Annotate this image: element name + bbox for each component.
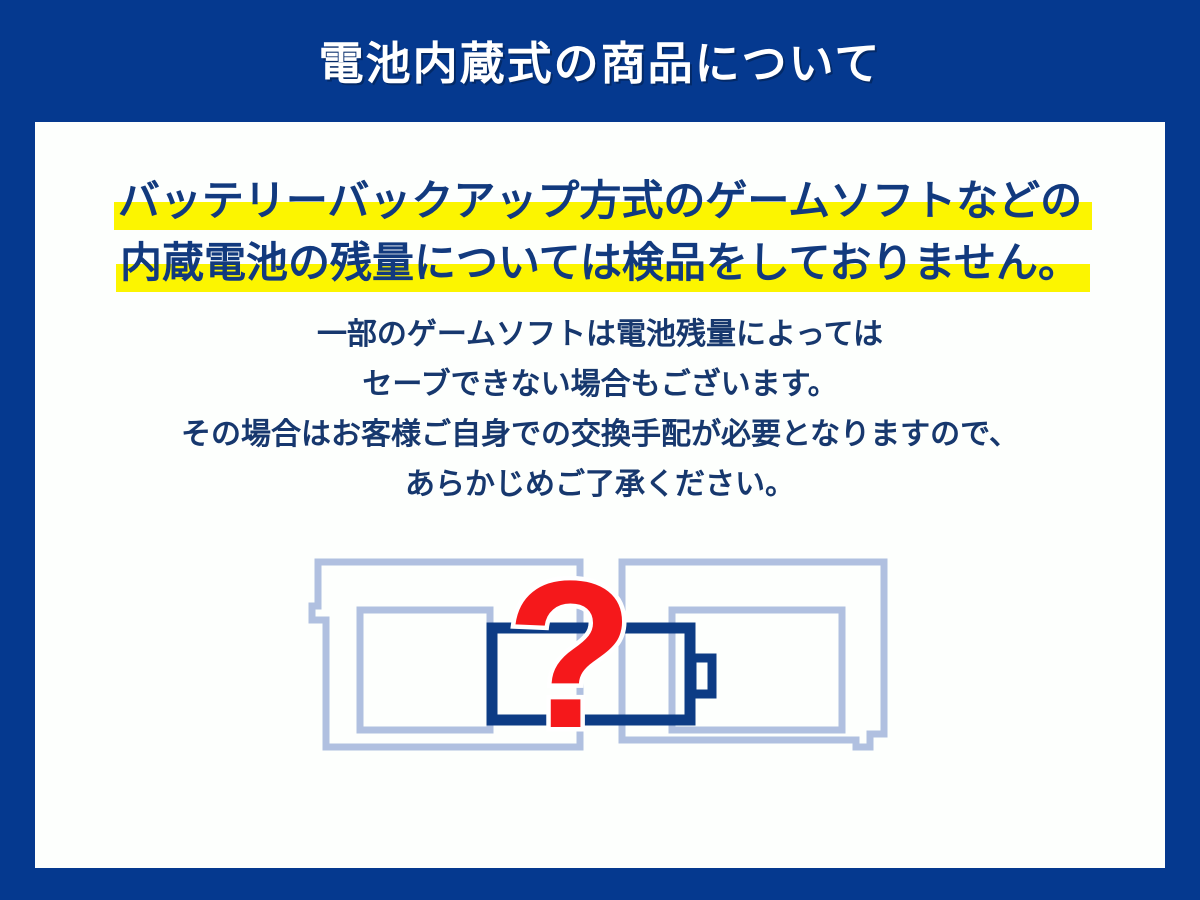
body-line-3: その場合はお客様ご自身での交換手配が必要となりますので、 bbox=[35, 410, 1165, 460]
lead-line-1: バッテリーバックアップ方式のゲームソフトなどの bbox=[35, 170, 1165, 232]
highlight-band-1: バッテリーバックアップ方式のゲームソフトなどの bbox=[114, 170, 1086, 232]
lead-line-2-text: 内蔵電池の残量については検品をしておりません。 bbox=[120, 239, 1080, 286]
body-line-2: セーブできない場合もございます。 bbox=[35, 360, 1165, 410]
body-copy: 一部のゲームソフトは電池残量によっては セーブできない場合もございます。 その場… bbox=[35, 310, 1165, 510]
lead-line-2: 内蔵電池の残量については検品をしておりません。 bbox=[35, 232, 1165, 294]
lead-line-1-text: バッテリーバックアップ方式のゲームソフトなどの bbox=[118, 177, 1082, 224]
body-line-1: 一部のゲームソフトは電池残量によっては bbox=[35, 310, 1165, 360]
slide-root: 電池内蔵式の商品について バッテリーバックアップ方式のゲームソフトなどの 内蔵電… bbox=[0, 0, 1200, 900]
body-line-4: あらかじめご了承ください。 bbox=[35, 460, 1165, 510]
svg-text:?: ? bbox=[506, 537, 634, 772]
illustration-svg: ? bbox=[280, 532, 920, 782]
content-card: バッテリーバックアップ方式のゲームソフトなどの 内蔵電池の残量については検品をし… bbox=[35, 122, 1165, 868]
header-band: 電池内蔵式の商品について bbox=[0, 0, 1200, 122]
highlight-band-2: 内蔵電池の残量については検品をしておりません。 bbox=[116, 232, 1084, 294]
page-title: 電池内蔵式の商品について bbox=[319, 41, 882, 86]
question-mark-icon: ? bbox=[506, 537, 634, 772]
lead-statement: バッテリーバックアップ方式のゲームソフトなどの 内蔵電池の残量については検品をし… bbox=[35, 170, 1165, 294]
illustration: ? bbox=[35, 532, 1165, 812]
